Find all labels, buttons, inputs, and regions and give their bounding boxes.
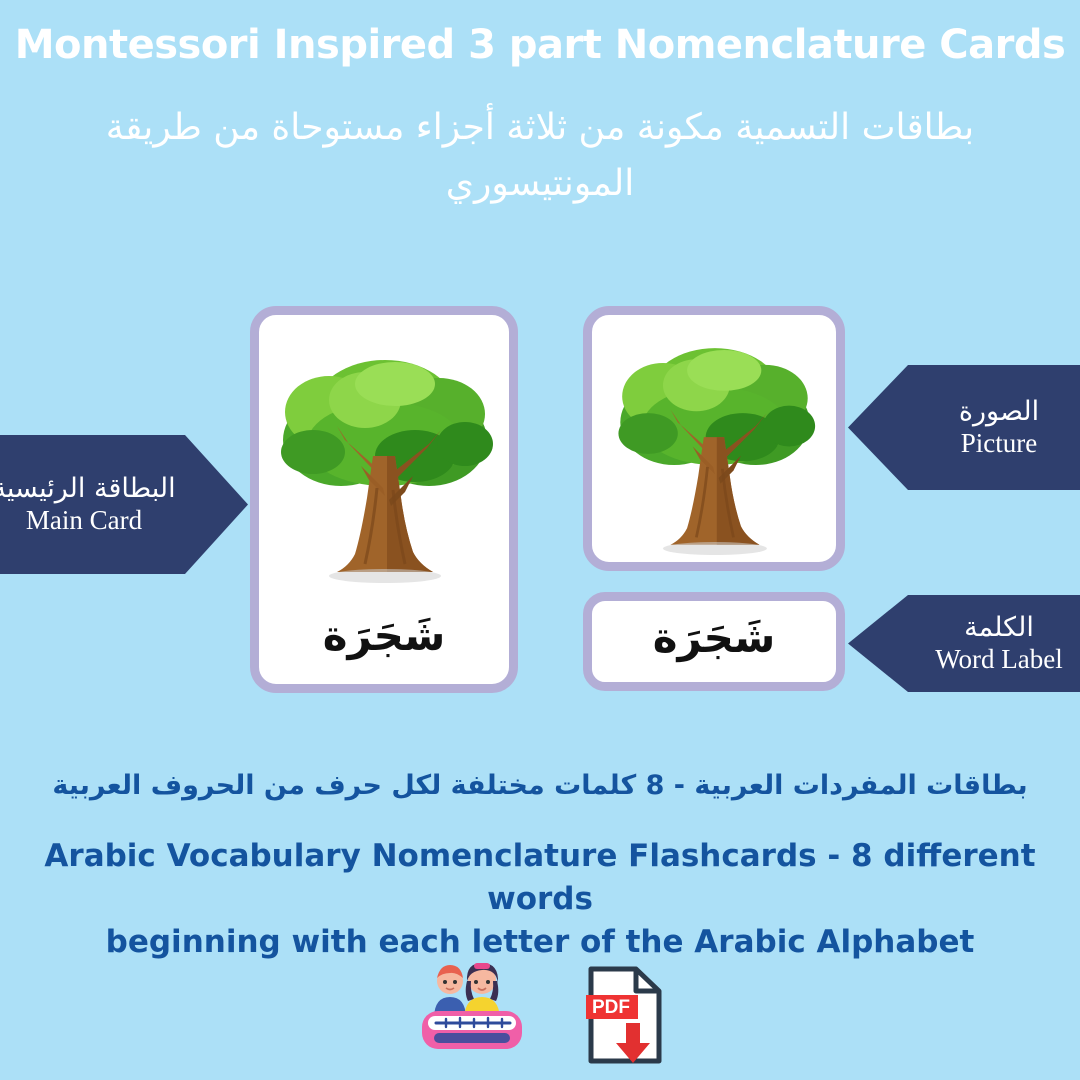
main-card-word-label: شَجَرَة bbox=[259, 611, 509, 660]
logo-arabic-line2: بمرح bbox=[528, 959, 529, 960]
description-english-line1: Arabic Vocabulary Nomenclature Flashcard… bbox=[30, 835, 1050, 921]
callout-main-card-english: Main Card bbox=[26, 505, 142, 537]
main-card[interactable]: شَجَرَة bbox=[250, 306, 518, 693]
callout-picture-english: Picture bbox=[961, 428, 1037, 460]
pdf-download-badge[interactable]: PDF PDF bbox=[586, 965, 664, 1065]
callout-word-label-arabic: الكلمة bbox=[964, 612, 1034, 644]
logo-english-text: Arabic Joy bbox=[528, 959, 529, 960]
arabic-joy-logo[interactable]: العربية بمرح Arabic Joy bbox=[416, 959, 528, 1071]
word-card[interactable]: شَجَرَة bbox=[583, 592, 845, 691]
pdf-download-icon: PDF bbox=[586, 965, 664, 1065]
footer-row: العربية بمرح Arabic Joy PDF PDF bbox=[0, 955, 1080, 1075]
callout-picture: الصورة Picture bbox=[848, 365, 1080, 490]
main-card-picture bbox=[259, 333, 509, 583]
picture-card-picture bbox=[592, 325, 836, 555]
description-arabic: بطاقات المفردات العربية - 8 كلمات مختلفة… bbox=[0, 770, 1080, 801]
page-title-english: Montessori Inspired 3 part Nomenclature … bbox=[0, 22, 1080, 68]
tree-icon bbox=[269, 348, 499, 583]
callout-word-label: الكلمة Word Label bbox=[848, 595, 1080, 692]
poster-canvas: Montessori Inspired 3 part Nomenclature … bbox=[0, 0, 1080, 1080]
callout-main-card: البطاقة الرئيسية Main Card bbox=[0, 435, 248, 574]
callout-main-card-arabic: البطاقة الرئيسية bbox=[0, 473, 176, 505]
description-english: Arabic Vocabulary Nomenclature Flashcard… bbox=[30, 835, 1050, 963]
callout-picture-arabic: الصورة bbox=[959, 396, 1039, 428]
two-children-icon bbox=[416, 959, 528, 1071]
word-card-label: شَجَرَة bbox=[592, 613, 836, 662]
page-title-arabic: بطاقات التسمية مكونة من ثلاثة أجزاء مستو… bbox=[40, 100, 1040, 212]
tree-icon bbox=[607, 337, 821, 555]
logo-arabic-line1: العربية bbox=[528, 959, 529, 960]
callout-word-label-english: Word Label bbox=[935, 644, 1063, 676]
picture-card[interactable] bbox=[583, 306, 845, 571]
pdf-label: PDF bbox=[664, 965, 665, 966]
pdf-badge-text: PDF bbox=[592, 997, 630, 1018]
